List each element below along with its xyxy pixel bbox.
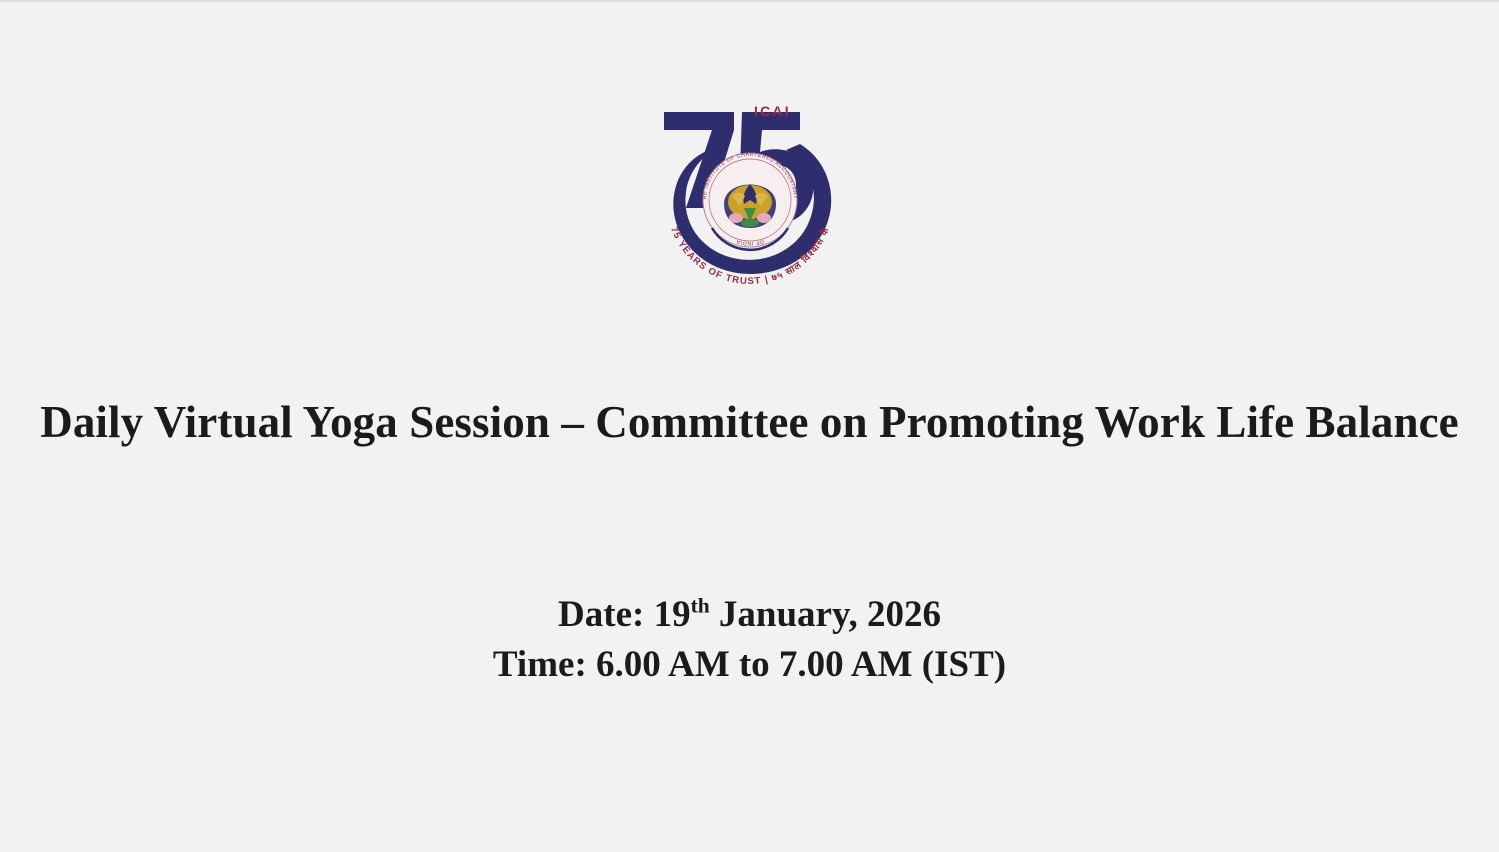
logo-container: ICAI THE INSTITUTE OF CHARTERED ACCOUNTA… — [0, 96, 1499, 288]
session-date-line: Date: 19th January, 2026 — [0, 590, 1499, 640]
date-day: 19 — [654, 594, 691, 635]
presentation-slide: ICAI THE INSTITUTE OF CHARTERED ACCOUNTA… — [0, 0, 1499, 852]
logo-garuda-emblem — [728, 184, 772, 227]
session-time-line: Time: 6.00 AM to 7.00 AM (IST) — [0, 640, 1499, 690]
date-label: Date: — [558, 594, 644, 635]
date-ordinal-suffix: th — [691, 594, 710, 618]
top-edge-divider — [0, 0, 1499, 2]
session-details: Date: 19th January, 2026 Time: 6.00 AM t… — [0, 590, 1499, 690]
logo-acronym-text: ICAI — [754, 103, 791, 119]
icai-75-years-logo: ICAI THE INSTITUTE OF CHARTERED ACCOUNTA… — [650, 96, 850, 288]
date-month-year: January, 2026 — [710, 594, 941, 635]
slide-title: Daily Virtual Yoga Session – Committee o… — [0, 398, 1499, 448]
